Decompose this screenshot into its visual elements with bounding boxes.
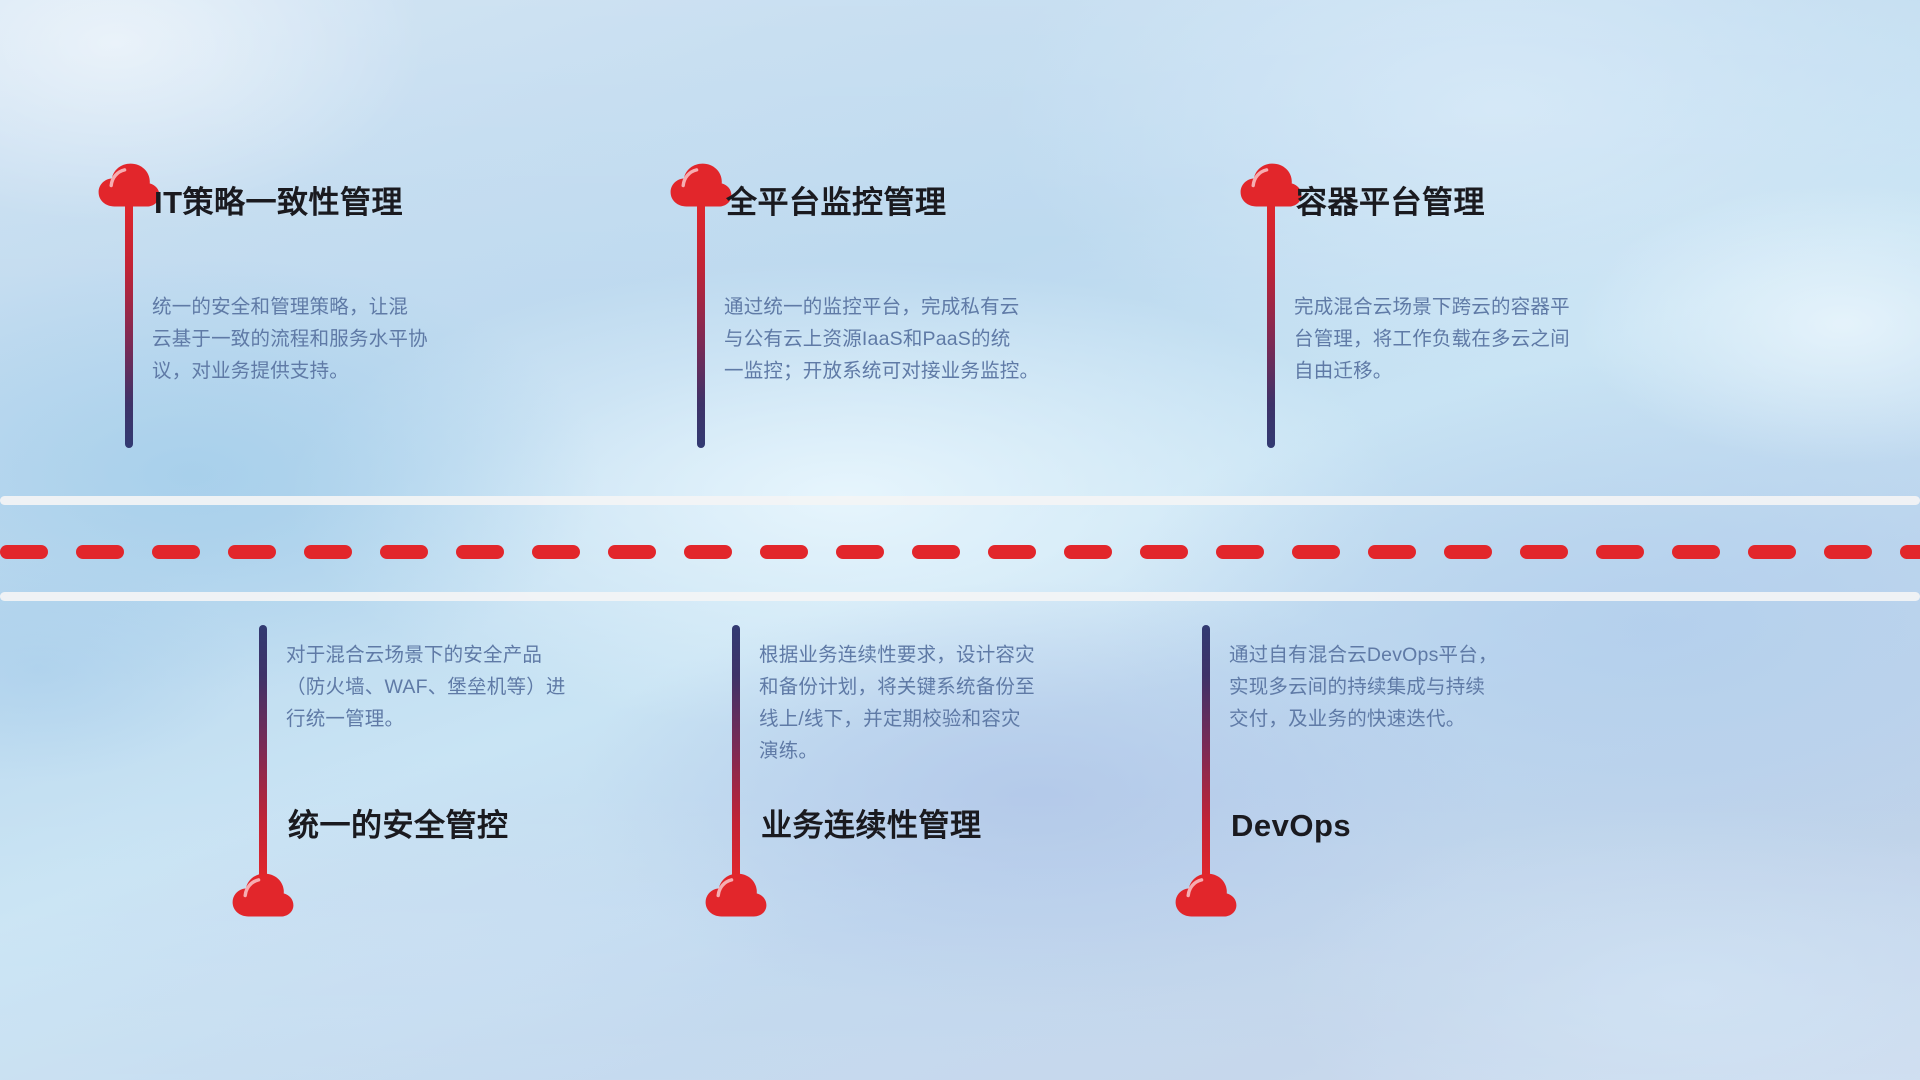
paragraph-line: 台管理，将工作负载在多云之间 (1294, 323, 1714, 355)
paragraph-line: 议，对业务提供支持。 (152, 355, 552, 387)
dash-segment (1368, 545, 1416, 559)
dash-segment (532, 545, 580, 559)
card-heading: DevOps (1231, 810, 1351, 841)
paragraph-line: 一监控；开放系统可对接业务监控。 (724, 355, 1144, 387)
paragraph-line: 与公有云上资源IaaS和PaaS的统 (724, 323, 1144, 355)
dash-segment (304, 545, 352, 559)
paragraph-line: 云基于一致的流程和服务水平协 (152, 323, 552, 355)
card-business-continuity[interactable]: 根据业务连续性要求，设计容灾 和备份计划，将关键系统备份至 线上/线下，并定期校… (705, 625, 1205, 955)
card-it-policy-consistency[interactable]: IT策略一致性管理 统一的安全和管理策略，让混 云基于一致的流程和服务水平协 议… (98, 163, 568, 473)
dash-segment (1064, 545, 1112, 559)
card-container-platform[interactable]: 容器平台管理 完成混合云场景下跨云的容器平 台管理，将工作负载在多云之间 自由迁… (1240, 163, 1740, 473)
paragraph-line: 通过自有混合云DevOps平台， (1229, 639, 1649, 671)
dash-segment (1292, 545, 1340, 559)
dash-segment (1824, 545, 1872, 559)
card-full-platform-monitoring[interactable]: 全平台监控管理 通过统一的监控平台，完成私有云 与公有云上资源IaaS和PaaS… (670, 163, 1170, 473)
connector-stem (1202, 625, 1210, 880)
dash-segment (228, 545, 276, 559)
paragraph-line: 对于混合云场景下的安全产品 (286, 639, 706, 671)
paragraph-line: 行统一管理。 (286, 703, 706, 735)
dash-segment (1444, 545, 1492, 559)
connector-stem (697, 201, 705, 448)
dash-segment (76, 545, 124, 559)
card-heading: 容器平台管理 (1296, 187, 1485, 218)
card-paragraph: 根据业务连续性要求，设计容灾 和备份计划，将关键系统备份至 线上/线下，并定期校… (759, 639, 1179, 767)
dash-segment (608, 545, 656, 559)
paragraph-line: 实现多云间的持续集成与持续 (1229, 671, 1649, 703)
divider-line-lower (0, 592, 1920, 601)
connector-stem (259, 625, 267, 880)
dash-segment (456, 545, 504, 559)
card-heading: 统一的安全管控 (288, 810, 509, 841)
card-paragraph: 对于混合云场景下的安全产品 （防火墙、WAF、堡垒机等）进 行统一管理。 (286, 639, 706, 735)
dashed-separator (0, 545, 1920, 559)
divider-line-upper (0, 496, 1920, 505)
dash-segment (1748, 545, 1796, 559)
connector-stem (125, 201, 133, 448)
cloud-icon (1175, 873, 1237, 917)
card-paragraph: 完成混合云场景下跨云的容器平 台管理，将工作负载在多云之间 自由迁移。 (1294, 291, 1714, 387)
dash-segment (1216, 545, 1264, 559)
dash-segment (684, 545, 732, 559)
dash-segment (912, 545, 960, 559)
paragraph-line: 和备份计划，将关键系统备份至 (759, 671, 1179, 703)
connector-stem (1267, 201, 1275, 448)
dash-segment (836, 545, 884, 559)
paragraph-line: 完成混合云场景下跨云的容器平 (1294, 291, 1714, 323)
paragraph-line: 交付，及业务的快速迭代。 (1229, 703, 1649, 735)
paragraph-line: 线上/线下，并定期校验和容灾 (759, 703, 1179, 735)
dash-segment (152, 545, 200, 559)
paragraph-line: 自由迁移。 (1294, 355, 1714, 387)
card-devops[interactable]: 通过自有混合云DevOps平台， 实现多云间的持续集成与持续 交付，及业务的快速… (1175, 625, 1675, 955)
paragraph-line: 统一的安全和管理策略，让混 (152, 291, 552, 323)
paragraph-line: 演练。 (759, 735, 1179, 767)
card-paragraph: 通过统一的监控平台，完成私有云 与公有云上资源IaaS和PaaS的统 一监控；开… (724, 291, 1144, 387)
card-unified-security-control[interactable]: 对于混合云场景下的安全产品 （防火墙、WAF、堡垒机等）进 行统一管理。 统一的… (232, 625, 732, 955)
connector-stem (732, 625, 740, 880)
paragraph-line: （防火墙、WAF、堡垒机等）进 (286, 671, 706, 703)
dash-segment (1900, 545, 1920, 559)
card-paragraph: 通过自有混合云DevOps平台， 实现多云间的持续集成与持续 交付，及业务的快速… (1229, 639, 1649, 735)
card-heading: IT策略一致性管理 (154, 187, 403, 218)
dash-segment (1520, 545, 1568, 559)
card-heading: 全平台监控管理 (726, 187, 947, 218)
dash-segment (0, 545, 48, 559)
dash-segment (1140, 545, 1188, 559)
card-heading: 业务连续性管理 (761, 810, 982, 841)
dash-segment (1672, 545, 1720, 559)
dash-segment (988, 545, 1036, 559)
dash-segment (380, 545, 428, 559)
dash-segment (1596, 545, 1644, 559)
cloud-icon (232, 873, 294, 917)
cloud-icon (705, 873, 767, 917)
card-paragraph: 统一的安全和管理策略，让混 云基于一致的流程和服务水平协 议，对业务提供支持。 (152, 291, 552, 387)
paragraph-line: 通过统一的监控平台，完成私有云 (724, 291, 1144, 323)
dash-segment (760, 545, 808, 559)
paragraph-line: 根据业务连续性要求，设计容灾 (759, 639, 1179, 671)
